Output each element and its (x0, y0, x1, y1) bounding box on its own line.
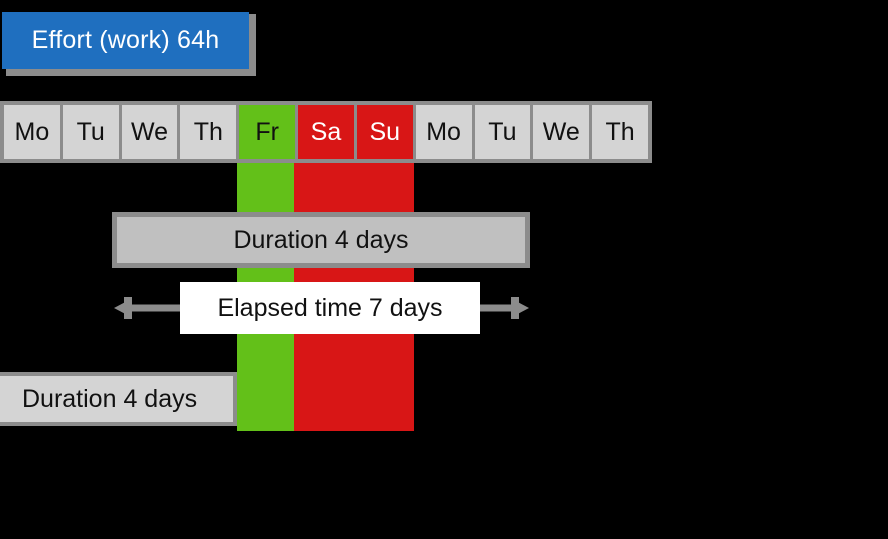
duration-bar-work-span-label: Duration 4 days (22, 385, 197, 414)
day-cell-3[interactable]: Th (180, 105, 236, 159)
day-cell-label: Tu (488, 118, 516, 147)
day-cell-label: Mo (426, 118, 461, 147)
day-cell-6[interactable]: Su (357, 105, 413, 159)
day-cell-4[interactable]: Fr (239, 105, 295, 159)
elapsed-time-label: Elapsed time 7 days (217, 294, 442, 323)
gantt-duration-diagram: Effort (work) 64h MoTuWeThFrSaSuMoTuWeTh… (0, 0, 888, 539)
duration-bar-elapsed-span-fill: Duration 4 days (117, 217, 525, 263)
elapsed-time-label-box: Elapsed time 7 days (180, 282, 480, 334)
day-cell-8[interactable]: Tu (475, 105, 531, 159)
day-cell-label: Tu (77, 118, 105, 147)
day-cell-9[interactable]: We (533, 105, 589, 159)
day-cell-label: Su (369, 118, 400, 147)
duration-bar-elapsed-span-label: Duration 4 days (233, 226, 408, 255)
day-cell-7[interactable]: Mo (416, 105, 472, 159)
effort-callout[interactable]: Effort (work) 64h (2, 12, 249, 69)
day-cell-label: Mo (15, 118, 50, 147)
duration-bar-work-span[interactable]: Duration 4 days (0, 372, 237, 426)
day-cell-label: We (543, 118, 580, 147)
duration-bar-elapsed-span[interactable]: Duration 4 days (112, 212, 530, 268)
day-cell-5[interactable]: Sa (298, 105, 354, 159)
day-cell-label: Fr (255, 118, 279, 147)
day-cell-label: We (131, 118, 168, 147)
duration-bar-work-span-fill: Duration 4 days (0, 376, 233, 422)
calendar-day-header: MoTuWeThFrSaSuMoTuWeTh (0, 101, 652, 163)
day-cell-0[interactable]: Mo (4, 105, 60, 159)
day-cell-10[interactable]: Th (592, 105, 648, 159)
day-cell-label: Sa (311, 118, 342, 147)
day-cell-2[interactable]: We (122, 105, 178, 159)
day-cell-label: Th (605, 118, 634, 147)
day-cell-label: Th (194, 118, 223, 147)
effort-callout-label: Effort (work) 64h (32, 26, 220, 55)
day-cell-1[interactable]: Tu (63, 105, 119, 159)
